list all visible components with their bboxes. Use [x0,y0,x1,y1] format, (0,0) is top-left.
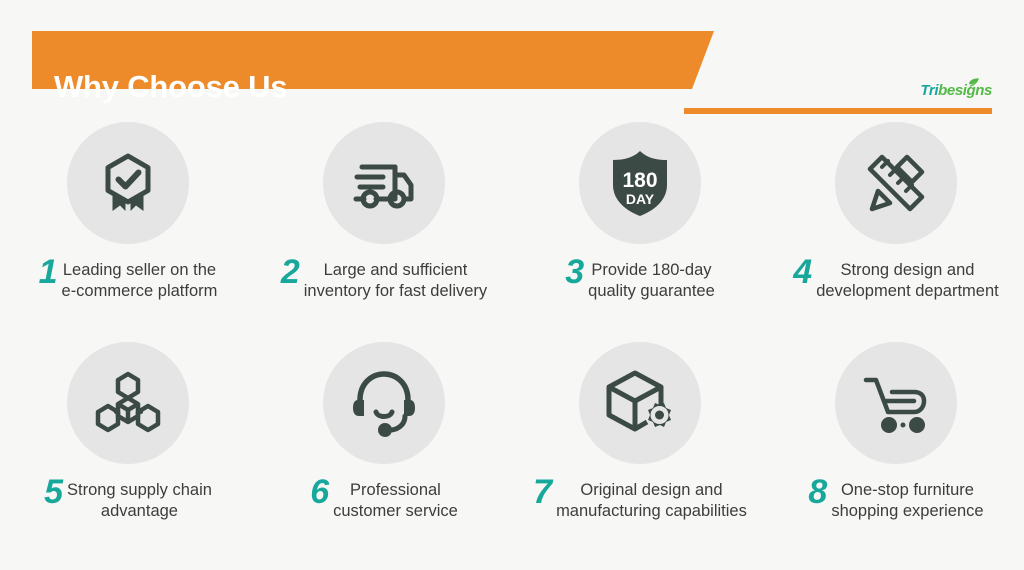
feature-number-4: 4 [793,257,812,288]
feature-number-6: 6 [310,477,329,508]
icon-circle-1 [67,122,189,244]
feature-text-4-line1: Strong design and [840,261,974,279]
leaf-icon [968,78,980,88]
feature-text-8: One-stop furniture shopping experience [831,480,983,522]
shield-unit-text: DAY [626,191,655,207]
supply-chain-network-icon [92,370,164,436]
feature-text-5-line2: advantage [101,502,178,520]
feature-card-6: 6 Professional customer service [256,330,512,550]
feature-text-7-line1: Original design and [580,481,722,499]
feature-caption-5: 5 Strong supply chain advantage [0,480,256,522]
feature-text-6-line2: customer service [333,502,458,520]
feature-caption-7: 7 Original design and manufacturing capa… [512,480,768,522]
feature-text-5-line1: Strong supply chain [67,481,212,499]
icon-circle-6 [323,342,445,464]
feature-text-3-line2: quality guarantee [588,282,715,300]
delivery-truck-icon [346,147,422,219]
feature-card-1: 1 Leading seller on the e-commerce platf… [0,110,256,330]
feature-text-6-line1: Professional [350,481,441,499]
brand-logo-prefix: Tri [920,82,938,99]
brand-logo: Tribesigns [920,82,992,99]
feature-text-3-line1: Provide 180-day [591,261,711,279]
feature-text-1-line1: Leading seller on the [63,261,216,279]
feature-text-4-line2: development department [816,282,999,300]
feature-text-8-line2: shopping experience [831,502,983,520]
page-title: Why Choose Us [54,71,287,102]
feature-text-4: Strong design and development department [816,260,999,302]
feature-text-3: Provide 180-day quality guarantee [588,260,715,302]
feature-number-5: 5 [44,477,63,508]
feature-text-2-line2: inventory for fast delivery [304,282,487,300]
feature-number-3: 3 [565,257,584,288]
feature-caption-3: 3 Provide 180-day quality guarantee [512,260,768,302]
slide-why-choose-us: Why Choose Us Tribesigns [0,0,1024,570]
feature-text-7: Original design and manufacturing capabi… [556,480,747,522]
icon-circle-7 [579,342,701,464]
feature-text-1-line2: e-commerce platform [62,282,218,300]
feature-number-2: 2 [281,257,300,288]
feature-caption-1: 1 Leading seller on the e-commerce platf… [0,260,256,302]
headset-support-icon [348,368,420,438]
feature-card-2: 2 Large and sufficient inventory for fas… [256,110,512,330]
feature-card-4: 4 Strong design and development departme… [768,110,1024,330]
feature-card-3: 180 DAY 3 Provide 180-day quality guaran… [512,110,768,330]
feature-text-8-line1: One-stop furniture [841,481,974,499]
feature-text-2: Large and sufficient inventory for fast … [304,260,487,302]
feature-caption-6: 6 Professional customer service [256,480,512,522]
shield-number-text: 180 [622,169,657,192]
icon-circle-8 [835,342,957,464]
feature-card-8: 8 One-stop furniture shopping experience [768,330,1024,550]
icon-circle-5 [67,342,189,464]
box-gear-manufacturing-icon [603,367,677,439]
feature-text-6: Professional customer service [333,480,458,522]
icon-circle-3: 180 DAY [579,122,701,244]
icon-circle-4 [835,122,957,244]
feature-text-2-line1: Large and sufficient [324,261,468,279]
feature-caption-4: 4 Strong design and development departme… [768,260,1024,302]
header: Why Choose Us Tribesigns [0,31,1024,89]
ruler-pencil-icon [860,147,932,219]
feature-number-8: 8 [808,477,827,508]
feature-text-5: Strong supply chain advantage [67,480,212,522]
brand-logo-suffix: besigns [938,82,992,99]
feature-caption-2: 2 Large and sufficient inventory for fas… [256,260,512,302]
feature-text-1: Leading seller on the e-commerce platfor… [62,260,218,302]
feature-card-5: 5 Strong supply chain advantage [0,330,256,550]
shield-180-day-icon: 180 DAY [607,147,673,219]
features-grid: 1 Leading seller on the e-commerce platf… [0,110,1024,550]
icon-circle-2 [323,122,445,244]
shopping-cart-icon [858,372,934,434]
award-badge-icon [92,147,164,219]
feature-caption-8: 8 One-stop furniture shopping experience [768,480,1024,522]
feature-card-7: 7 Original design and manufacturing capa… [512,330,768,550]
feature-number-1: 1 [39,257,58,288]
feature-text-7-line2: manufacturing capabilities [556,502,747,520]
feature-number-7: 7 [533,477,552,508]
